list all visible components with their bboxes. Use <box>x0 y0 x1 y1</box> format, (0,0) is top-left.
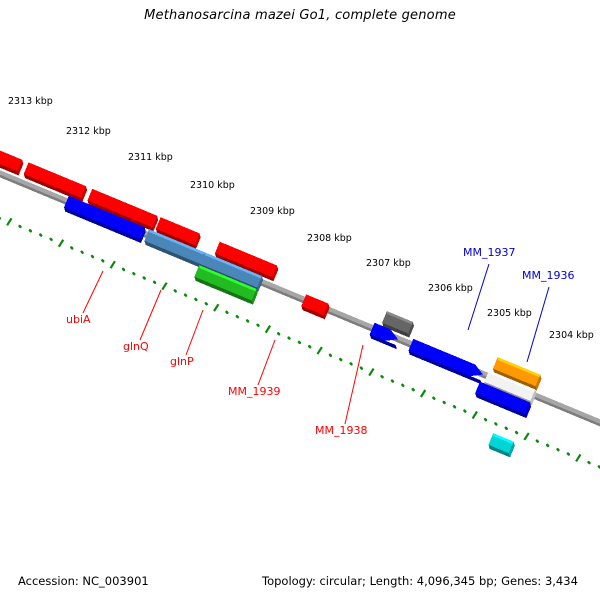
minor-tick-mark <box>154 282 155 283</box>
minor-tick-mark <box>123 269 124 270</box>
minor-tick-mark <box>133 273 134 274</box>
minor-tick-mark <box>196 299 197 300</box>
minor-tick-mark <box>589 462 590 463</box>
minor-tick-mark <box>485 419 486 420</box>
minor-tick-mark <box>402 385 403 386</box>
minor-tick-mark <box>206 303 207 304</box>
minor-tick-mark <box>433 398 434 399</box>
accession-text: Accession: NC_003901 <box>18 574 149 588</box>
minor-tick-mark <box>330 355 331 356</box>
minor-tick-mark <box>102 260 103 261</box>
gene-label-glnp[interactable]: glnP <box>170 355 194 368</box>
topology-text: Topology: circular; Length: 4,096,345 bp… <box>262 574 578 588</box>
gene-label-ubia[interactable]: ubiA <box>66 313 91 326</box>
gene-label-mm_1936[interactable]: MM_1936 <box>522 269 574 282</box>
major-tick-mark <box>59 240 63 247</box>
label-leader-lines <box>83 264 549 424</box>
minor-tick-mark <box>392 381 393 382</box>
minor-tick-mark <box>144 278 145 279</box>
minor-tick-mark <box>299 342 300 343</box>
minor-tick-mark <box>247 321 248 322</box>
minor-tick-mark <box>547 445 548 446</box>
leader-line-glnp <box>186 310 203 355</box>
gene-blue-1936[interactable] <box>409 339 483 385</box>
minor-tick-mark <box>185 295 186 296</box>
minor-tick-mark <box>464 411 465 412</box>
status-bar: Accession: NC_003901 Topology: circular;… <box>0 566 600 600</box>
genome-map-canvas[interactable]: 2313 kbp2312 kbp2311 kbp2310 kbp2309 kbp… <box>0 0 600 600</box>
leader-line-mm_1939 <box>258 340 275 385</box>
major-tick-mark <box>7 218 11 225</box>
minor-tick-mark <box>237 316 238 317</box>
minor-tick-mark <box>413 389 414 390</box>
minor-tick-mark <box>289 338 290 339</box>
leader-line-mm_1938 <box>345 345 363 424</box>
major-tick-mark <box>524 433 528 440</box>
minor-tick-mark <box>71 248 72 249</box>
gene-label-glnq[interactable]: glnQ <box>123 340 149 353</box>
scale-tick-label: 2309 kbp <box>250 206 295 217</box>
major-tick-mark <box>369 369 373 376</box>
minor-tick-mark <box>516 432 517 433</box>
major-tick-mark <box>421 390 425 397</box>
gene-red-1[interactable] <box>0 141 23 175</box>
genome-map-viewer: Methanosarcina mazei Go1, complete genom… <box>0 0 600 600</box>
gene-label-mm_1939[interactable]: MM_1939 <box>228 385 280 398</box>
major-tick-mark <box>111 261 115 268</box>
scale-tick-label: 2304 kbp <box>549 330 594 341</box>
minor-tick-mark <box>227 312 228 313</box>
minor-tick-mark <box>30 230 31 231</box>
scale-tick-label: 2308 kbp <box>307 233 352 244</box>
scale-tick-label: 2310 kbp <box>190 180 235 191</box>
gene-label-mm_1937[interactable]: MM_1937 <box>463 246 515 259</box>
major-tick-mark <box>473 411 477 418</box>
minor-tick-mark <box>309 346 310 347</box>
minor-tick-mark <box>258 325 259 326</box>
scale-tick-label: 2311 kbp <box>128 152 173 163</box>
minor-tick-mark <box>92 256 93 257</box>
minor-tick-mark <box>51 239 52 240</box>
minor-tick-mark <box>454 406 455 407</box>
scale-tick-label: 2313 kbp <box>8 96 53 107</box>
scale-tick-label: 2306 kbp <box>428 283 473 294</box>
scale-tick-label: 2305 kbp <box>487 308 532 319</box>
gene-features-layer[interactable] <box>0 141 542 457</box>
leader-line-glnq <box>140 290 161 340</box>
minor-tick-mark <box>175 290 176 291</box>
minor-tick-mark <box>506 428 507 429</box>
major-tick-mark <box>576 454 580 461</box>
minor-tick-mark <box>82 252 83 253</box>
leader-line-mm_1937 <box>468 264 489 330</box>
minor-tick-mark <box>558 449 559 450</box>
gene-label-mm_1938[interactable]: MM_1938 <box>315 424 367 437</box>
minor-tick-mark <box>537 441 538 442</box>
major-tick-mark <box>317 347 321 354</box>
major-tick-mark <box>214 304 218 311</box>
minor-tick-mark <box>351 363 352 364</box>
gene-cyan-1[interactable] <box>488 433 514 457</box>
minor-tick-mark <box>361 368 362 369</box>
minor-tick-mark <box>568 454 569 455</box>
gene-labels[interactable]: ubiAglnQglnPMM_1939MM_1938MM_1937MM_1936 <box>66 246 574 437</box>
minor-tick-mark <box>340 359 341 360</box>
scale-tick-label: 2312 kbp <box>66 126 111 137</box>
scale-tick-label: 2307 kbp <box>366 258 411 269</box>
minor-tick-mark <box>382 376 383 377</box>
minor-tick-mark <box>40 235 41 236</box>
minor-tick-mark <box>278 333 279 334</box>
major-tick-mark <box>266 326 270 333</box>
minor-tick-mark <box>444 402 445 403</box>
minor-tick-mark <box>20 226 21 227</box>
gene-red-1938[interactable] <box>301 294 329 319</box>
minor-tick-mark <box>496 424 497 425</box>
major-tick-mark <box>162 283 166 290</box>
leader-line-mm_1936 <box>527 287 549 362</box>
leader-line-ubia <box>83 271 103 313</box>
